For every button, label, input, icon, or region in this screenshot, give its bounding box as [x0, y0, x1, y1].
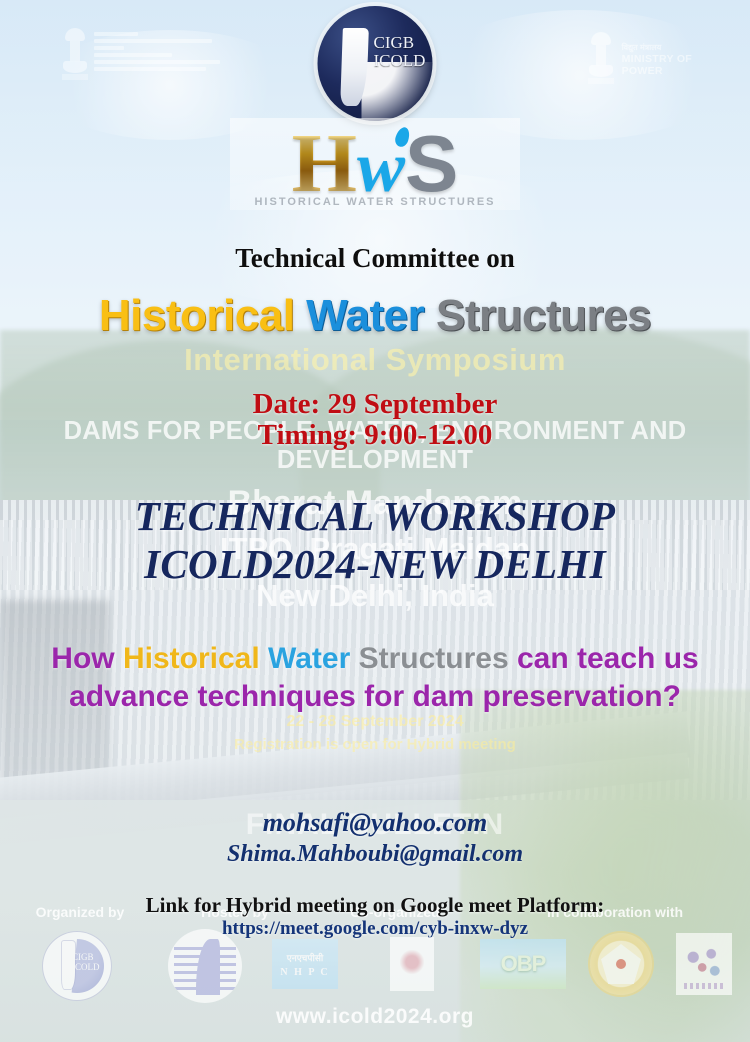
- title-word-structures: Structures: [436, 291, 651, 340]
- sponsor-seal-logo: [590, 933, 652, 995]
- workshop-question: How Historical Water Structures can teac…: [40, 640, 710, 717]
- workshop-title-line1: TECHNICAL WORKSHOP: [0, 492, 750, 540]
- sponsor-icold-text: CIGB ICOLD: [72, 953, 100, 973]
- nhpc-hindi-text: एनएचपीसी: [287, 951, 324, 964]
- title-word-historical: Historical: [99, 291, 306, 340]
- sponsor-cigb-icold-logo: CIGB ICOLD: [42, 931, 112, 1001]
- sponsor-institute-logo: [676, 933, 732, 995]
- question-word-structures: Structures: [350, 642, 508, 675]
- question-word-historical: Historical: [123, 642, 260, 675]
- poster-root: International Symposium DAMS FOR PEOPLE,…: [0, 0, 750, 1042]
- page-title: Historical Water Structures: [0, 291, 750, 341]
- contact-email-secondary[interactable]: Shima.Mahboubi@gmail.com: [0, 841, 750, 868]
- committee-prefix: Technical Committee on: [0, 243, 750, 274]
- sponsor-nhpc-logo: एनएचपीसी N H P C: [272, 939, 338, 989]
- event-timing: Timing: 9:00-12.00: [0, 419, 750, 452]
- question-word-water: Water: [260, 642, 351, 675]
- sponsor-logo-row: CIGB ICOLD एनएचपीसी N H P C OBP: [0, 925, 750, 1003]
- contact-email-primary[interactable]: mohsafi@yahoo.com: [0, 808, 750, 838]
- meeting-link-label: Link for Hybrid meeting on Google meet P…: [0, 893, 750, 918]
- nhpc-english-text: N H P C: [280, 967, 329, 978]
- title-word-water: Water: [306, 291, 436, 340]
- workshop-title-line2: ICOLD2024-NEW DELHI: [0, 540, 750, 588]
- sponsor-obp-logo: OBP: [480, 939, 566, 989]
- sponsor-cwc-logo: [168, 929, 242, 1003]
- sponsor-partner-logo: [390, 937, 434, 991]
- question-prefix: How: [51, 642, 123, 675]
- foreground-text-layer: Technical Committee on Historical Water …: [0, 0, 750, 1042]
- event-date: Date: 29 September: [0, 388, 750, 421]
- obp-text: OBP: [501, 951, 546, 977]
